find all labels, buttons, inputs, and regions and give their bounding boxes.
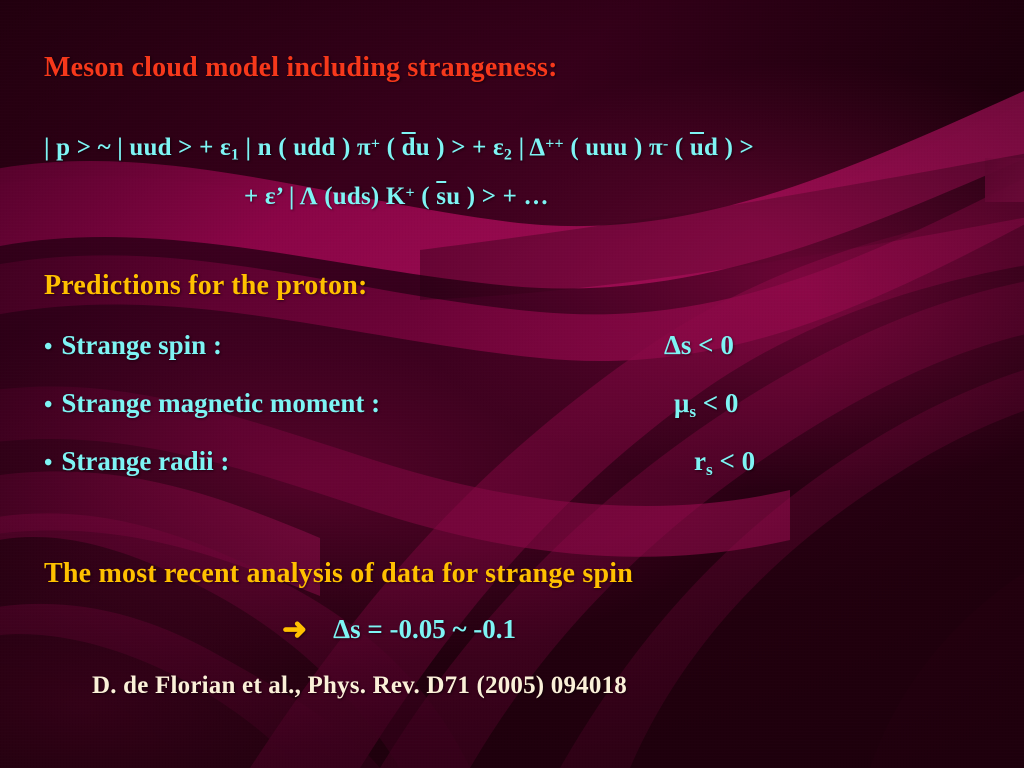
eq1-sup-2: ++ <box>545 135 564 152</box>
eq2-antiquark-sbar: s <box>436 183 446 210</box>
presentation-slide: Meson cloud model including strangeness:… <box>0 0 1024 768</box>
value-base-0: Δs < 0 <box>664 330 734 360</box>
eq2-seg-b: ( <box>415 183 436 210</box>
bullet-label-strange-spin: Strange spin : <box>61 330 222 361</box>
eq1-seg-h: d ) > <box>704 134 754 161</box>
bullet-icon: • <box>44 451 52 475</box>
value-tail-1: < 0 <box>696 388 738 418</box>
value-sym-1: μ <box>674 388 689 418</box>
eq1-seg-g: ( <box>668 134 689 161</box>
meson-cloud-equation-line-1: | p > ~ | uud > + ε1 | n ( udd ) π+ ( du… <box>44 134 754 164</box>
citation-reference: D. de Florian et al., Phys. Rev. D71 (20… <box>92 672 627 700</box>
meson-cloud-equation-line-2: + ε’ | Λ (uds) K+ ( su ) > + … <box>244 183 549 211</box>
eq1-sup-1: + <box>371 135 380 152</box>
slide-content: Meson cloud model including strangeness:… <box>0 0 1024 768</box>
value-tail-2: < 0 <box>713 446 755 476</box>
eq2-seg-c: u ) > + … <box>446 183 549 210</box>
eq1-seg-a: | p > ~ | uud > + ε <box>44 134 231 161</box>
slide-title: Meson cloud model including strangeness: <box>44 52 558 84</box>
eq1-sub-2: 2 <box>504 146 512 163</box>
bullet-value-strange-magnetic-moment: μs < 0 <box>674 388 738 422</box>
eq1-seg-d: u ) > + ε <box>416 134 504 161</box>
list-item: • Strange spin : Δs < 0 <box>44 330 844 361</box>
list-item: • Strange radii : rs < 0 <box>44 446 844 477</box>
analysis-heading: The most recent analysis of data for str… <box>44 558 633 590</box>
eq2-sup-1: + <box>406 184 415 201</box>
bullet-icon: • <box>44 393 52 417</box>
eq1-antiquark-ubar: u <box>690 134 704 161</box>
eq2-seg-a: + ε’ | Λ (uds) K <box>244 183 406 210</box>
result-value: Δs = -0.05 ~ -0.1 <box>333 614 516 645</box>
bullet-value-strange-spin: Δs < 0 <box>664 330 734 364</box>
eq1-seg-e: | Δ <box>512 134 545 161</box>
bullet-value-strange-radii: rs < 0 <box>694 446 755 480</box>
result-row: ➜ Δs = -0.05 ~ -0.1 <box>282 612 516 647</box>
eq1-seg-b: | n ( udd ) π <box>239 134 371 161</box>
eq1-sub-1: 1 <box>231 146 239 163</box>
predictions-heading: Predictions for the proton: <box>44 270 368 302</box>
value-sub-2: s <box>706 460 713 479</box>
bullet-label-strange-radii: Strange radii : <box>61 446 229 477</box>
eq1-seg-f: ( uuu ) π <box>564 134 663 161</box>
eq1-antiquark-dbar: d <box>402 134 416 161</box>
bullet-icon: • <box>44 335 52 359</box>
bullet-label-strange-magnetic-moment: Strange magnetic moment : <box>61 388 380 419</box>
value-sym-2: r <box>694 446 706 476</box>
arrow-right-icon: ➜ <box>282 612 307 647</box>
eq1-seg-c: ( <box>380 134 401 161</box>
list-item: • Strange magnetic moment : μs < 0 <box>44 388 844 419</box>
